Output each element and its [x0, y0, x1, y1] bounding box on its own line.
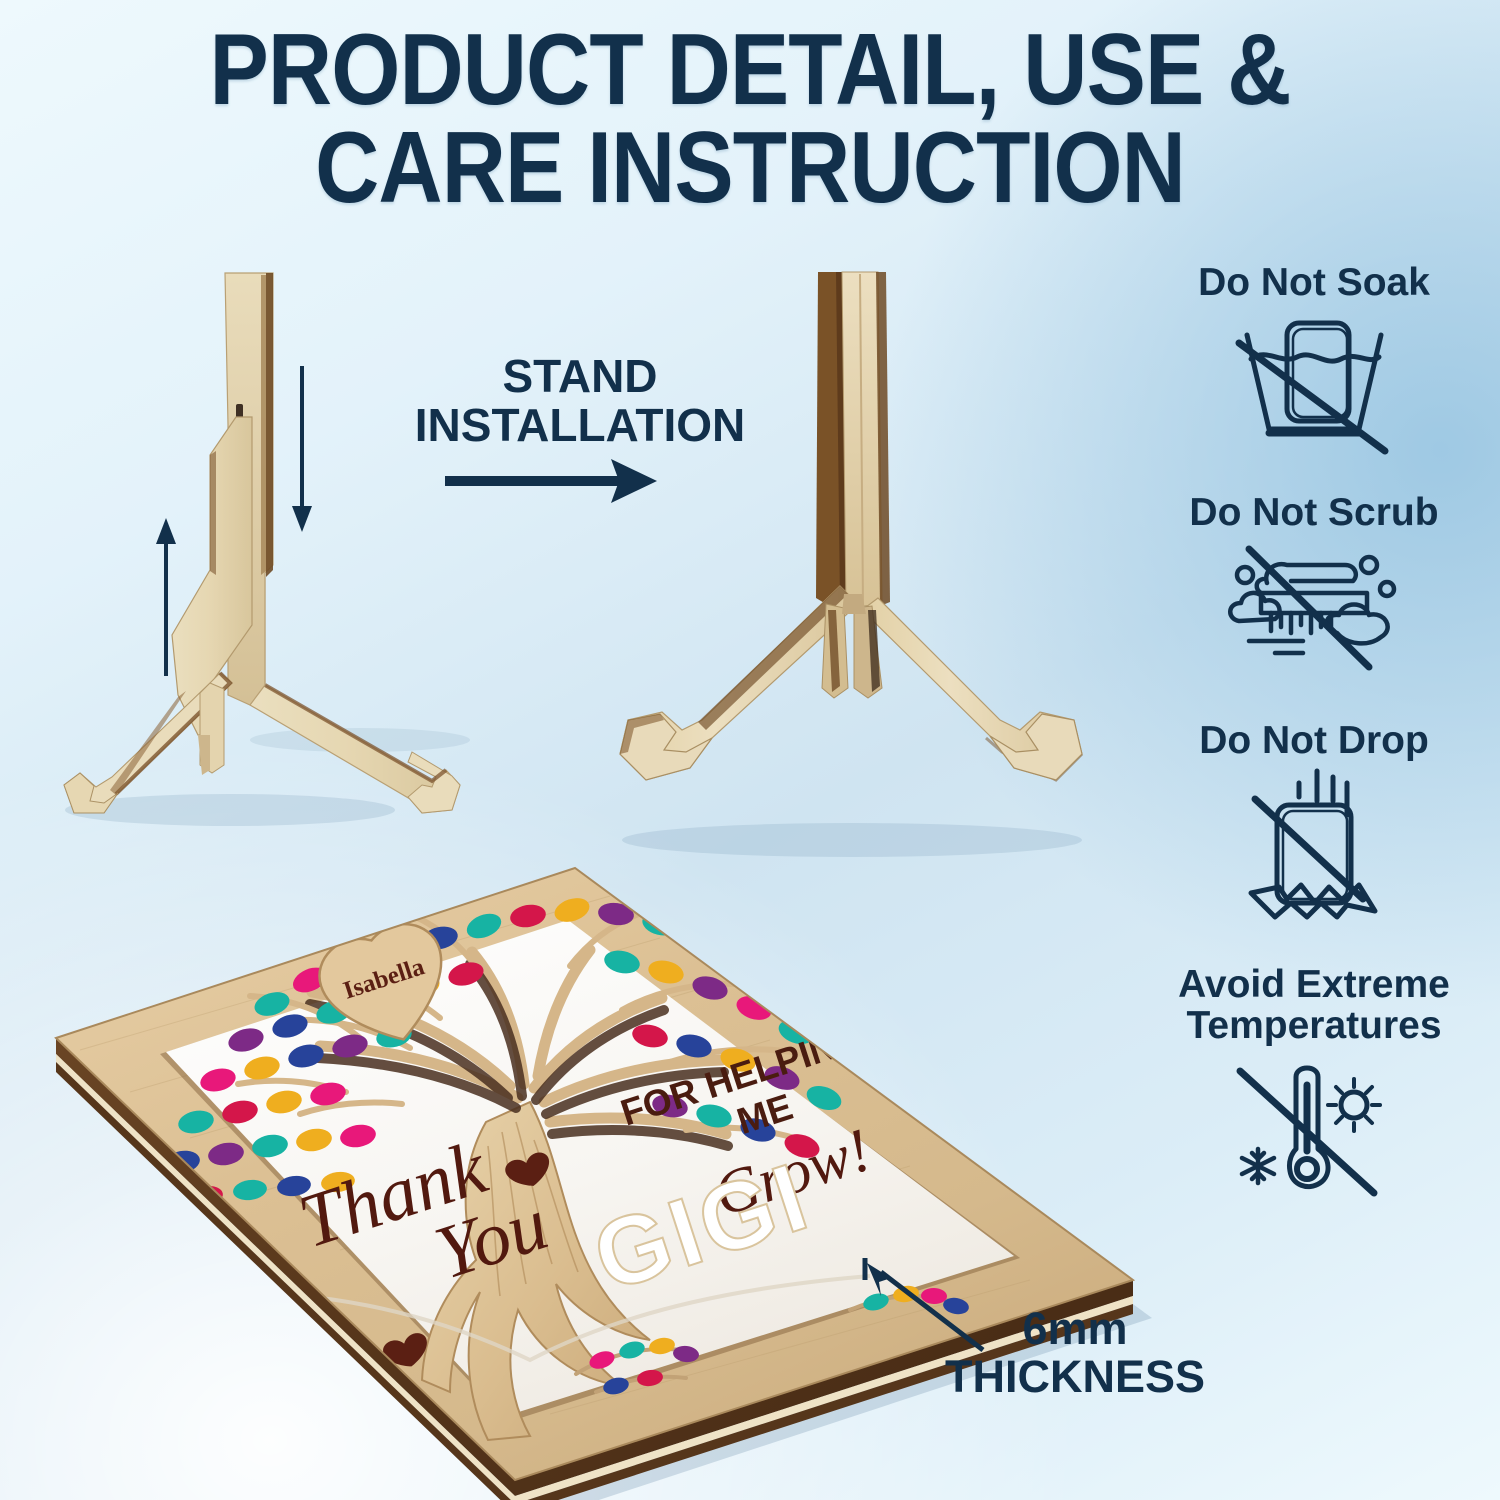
thickness-callout-label: 6mm THICKNESS	[930, 1305, 1220, 1400]
stand-assembled-illustration	[590, 268, 1110, 868]
care-label-do-not-drop: Do Not Drop	[1128, 720, 1500, 761]
care-label-do-not-soak: Do Not Soak	[1128, 262, 1500, 303]
care-item-do-not-scrub: Do Not Scrub	[1128, 492, 1500, 720]
care-item-do-not-drop: Do Not Drop	[1128, 720, 1500, 964]
no-scrub-icon	[1219, 537, 1409, 679]
infographic-canvas: PRODUCT DETAIL, USE & CARE INSTRUCTION	[0, 0, 1500, 1500]
care-item-do-not-soak: Do Not Soak	[1128, 262, 1500, 492]
care-instructions-list: Do Not Soak Do Not Scrub	[1128, 262, 1500, 1214]
no-extreme-temperature-icon	[1224, 1051, 1404, 1201]
arrow-up-icon	[153, 516, 179, 676]
care-label-do-not-scrub: Do Not Scrub	[1128, 492, 1500, 533]
no-soak-icon	[1229, 307, 1399, 457]
arrow-down-icon	[289, 366, 315, 536]
page-title: PRODUCT DETAIL, USE & CARE INSTRUCTION	[90, 22, 1410, 218]
care-item-avoid-extreme-temperatures: Avoid Extreme Temperatures	[1128, 964, 1500, 1214]
care-label-avoid-extreme-temperatures: Avoid Extreme Temperatures	[1128, 964, 1500, 1047]
no-drop-icon	[1229, 765, 1399, 927]
